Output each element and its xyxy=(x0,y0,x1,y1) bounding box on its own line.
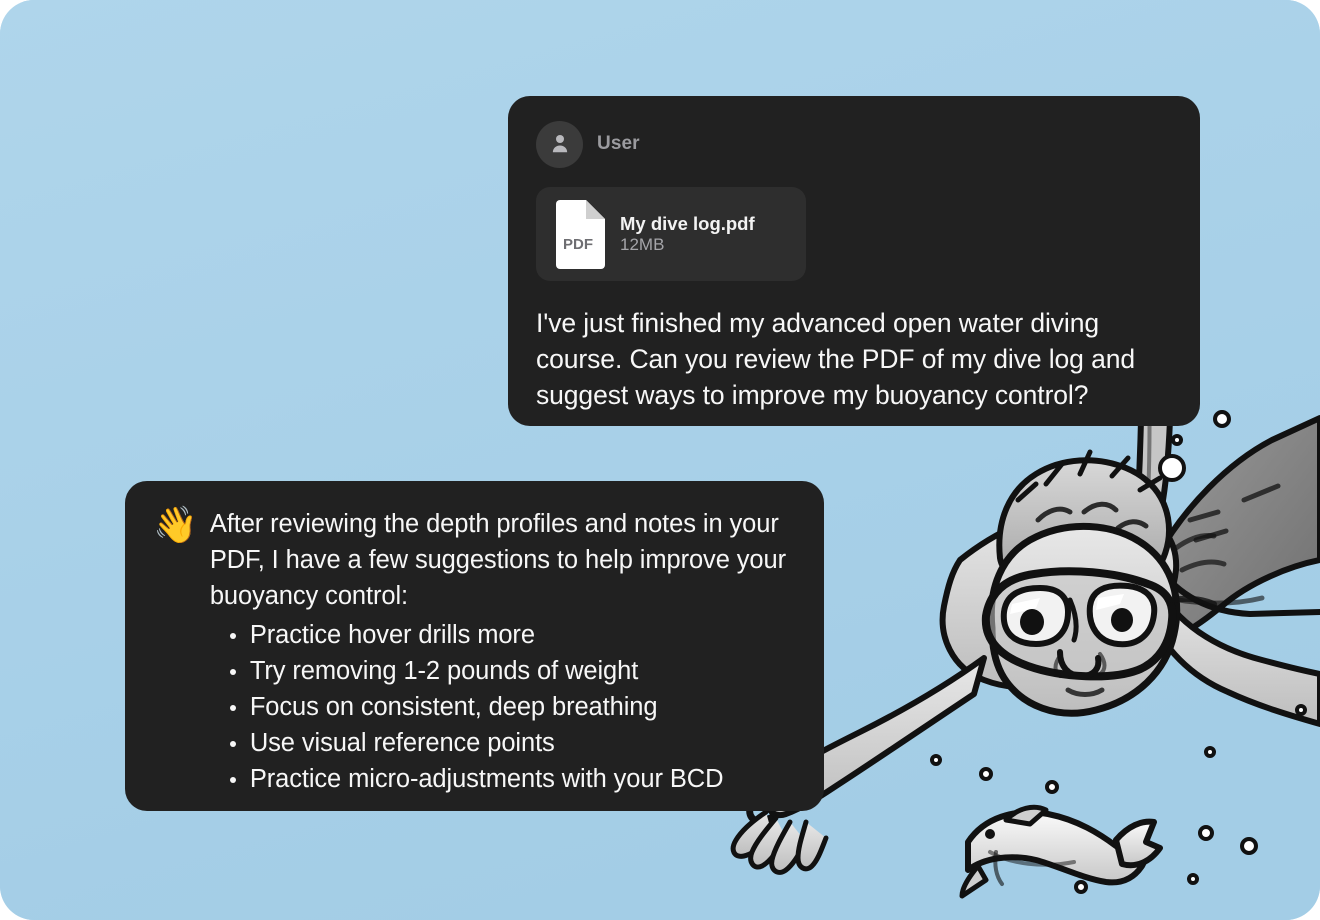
assistant-message-intro: After reviewing the depth profiles and n… xyxy=(210,506,798,614)
attachment-meta: My dive log.pdf 12MB xyxy=(620,212,790,256)
pdf-file-icon: PDF xyxy=(551,200,605,269)
screenshot-root: User PDF My dive log.pdf 12MB I've just … xyxy=(0,0,1320,920)
list-item: Practice micro-adjustments with your BCD xyxy=(250,761,798,797)
assistant-message-body: After reviewing the depth profiles and n… xyxy=(210,506,798,797)
person-avatar-icon xyxy=(536,121,583,168)
user-message-text: I've just finished my advanced open wate… xyxy=(536,305,1172,413)
underwater-scene: User PDF My dive log.pdf 12MB I've just … xyxy=(0,0,1320,920)
assistant-message-bubble: 👋 After reviewing the depth profiles and… xyxy=(125,481,824,811)
attachment-chip[interactable]: PDF My dive log.pdf 12MB xyxy=(536,187,806,281)
list-item: Focus on consistent, deep breathing xyxy=(250,689,798,725)
list-item: Practice hover drills more xyxy=(250,617,798,653)
attachment-filename: My dive log.pdf xyxy=(620,213,755,234)
attachment-filesize: 12MB xyxy=(620,235,664,254)
user-message-bubble: User PDF My dive log.pdf 12MB I've just … xyxy=(508,96,1200,426)
list-item: Try removing 1-2 pounds of weight xyxy=(250,653,798,689)
user-message-author: User xyxy=(597,133,640,155)
suggestion-list: Practice hover drills more Try removing … xyxy=(210,617,798,797)
waving-hand-emoji: 👋 xyxy=(153,504,198,546)
user-message-header: User xyxy=(536,120,1172,168)
svg-text:PDF: PDF xyxy=(563,236,593,253)
list-item: Use visual reference points xyxy=(250,725,798,761)
